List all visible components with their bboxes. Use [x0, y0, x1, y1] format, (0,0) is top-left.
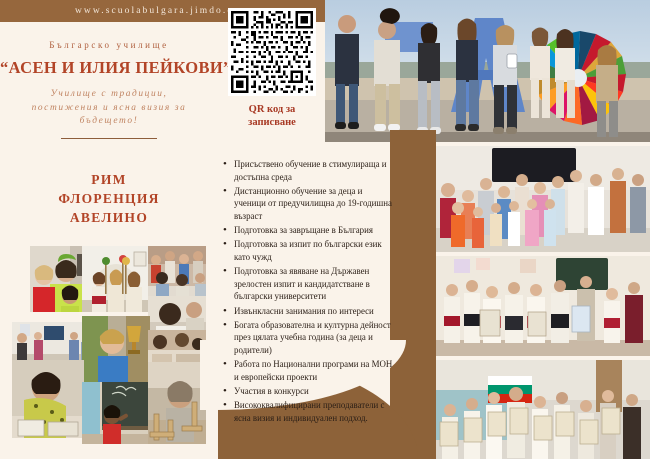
- photo-parents-in-classroom: [12, 322, 92, 362]
- school-motto: Училище с традиции, постижения и ясна ви…: [0, 88, 218, 129]
- feature-item: Извънкласни занимания по интереси: [222, 305, 396, 318]
- photo-group-indoors: [436, 146, 650, 252]
- photo-folk-costumes: [436, 256, 650, 356]
- photo-classroom-desks: [148, 246, 206, 300]
- photo-children-with-survaknitsa: [82, 246, 150, 312]
- divider-rule: [61, 138, 157, 140]
- brand-eyebrow: Българско училище: [0, 40, 218, 50]
- qr-block: QR код за записване: [224, 8, 320, 130]
- feature-item: Подготовка за завръщане в България: [222, 224, 396, 237]
- qr-code-icon[interactable]: [228, 8, 316, 96]
- features-list: Присъствено обучение в стимулираща и дос…: [222, 158, 396, 426]
- brown-side-panel: [390, 130, 436, 459]
- feature-item: Подготовка за явяване на Държавен зрелос…: [222, 265, 396, 303]
- photo-certificates: [436, 360, 650, 459]
- photo-child-at-blackboard: [82, 382, 150, 444]
- photo-wooden-construction: [148, 362, 206, 444]
- feature-item: Дистанционно обучение за деца и ученици …: [222, 185, 396, 223]
- city-item: АВЕЛИНО: [0, 208, 218, 227]
- feature-item: Богата образователна и културна дейност …: [222, 319, 396, 357]
- photo-boy-with-trophy: [82, 316, 150, 388]
- brand-block: Българско училище “АСЕН И ИЛИЯ ПЕЙКОВИ” …: [0, 40, 218, 139]
- feature-item: Подготовка за изпит по български език ка…: [222, 238, 396, 263]
- feature-item: Висококвалифицирани преподаватели с ясна…: [222, 399, 396, 424]
- city-list: РИМ ФЛОРЕНЦИЯ АВЕЛИНО: [0, 170, 218, 227]
- feature-item: Присъствено обучение в стимулираща и дос…: [222, 158, 396, 183]
- poster-root: www.scuolabulgara.jimdo.com Българско уч…: [0, 0, 650, 459]
- photo-child-writing-workbook: [12, 360, 84, 438]
- city-item: ФЛОРЕНЦИЯ: [0, 189, 218, 208]
- feature-item: Участия в конкурси: [222, 385, 396, 398]
- school-name: “АСЕН И ИЛИЯ ПЕЙКОВИ”: [0, 58, 218, 78]
- city-item: РИМ: [0, 170, 218, 189]
- qr-caption: QR код за записване: [224, 103, 320, 130]
- photo-hero-students: [325, 0, 650, 142]
- qr-caption-line-2: записване: [224, 116, 320, 129]
- feature-item: Работа по Национални програми на МОН и е…: [222, 358, 396, 383]
- qr-caption-line-1: QR код за: [224, 103, 320, 116]
